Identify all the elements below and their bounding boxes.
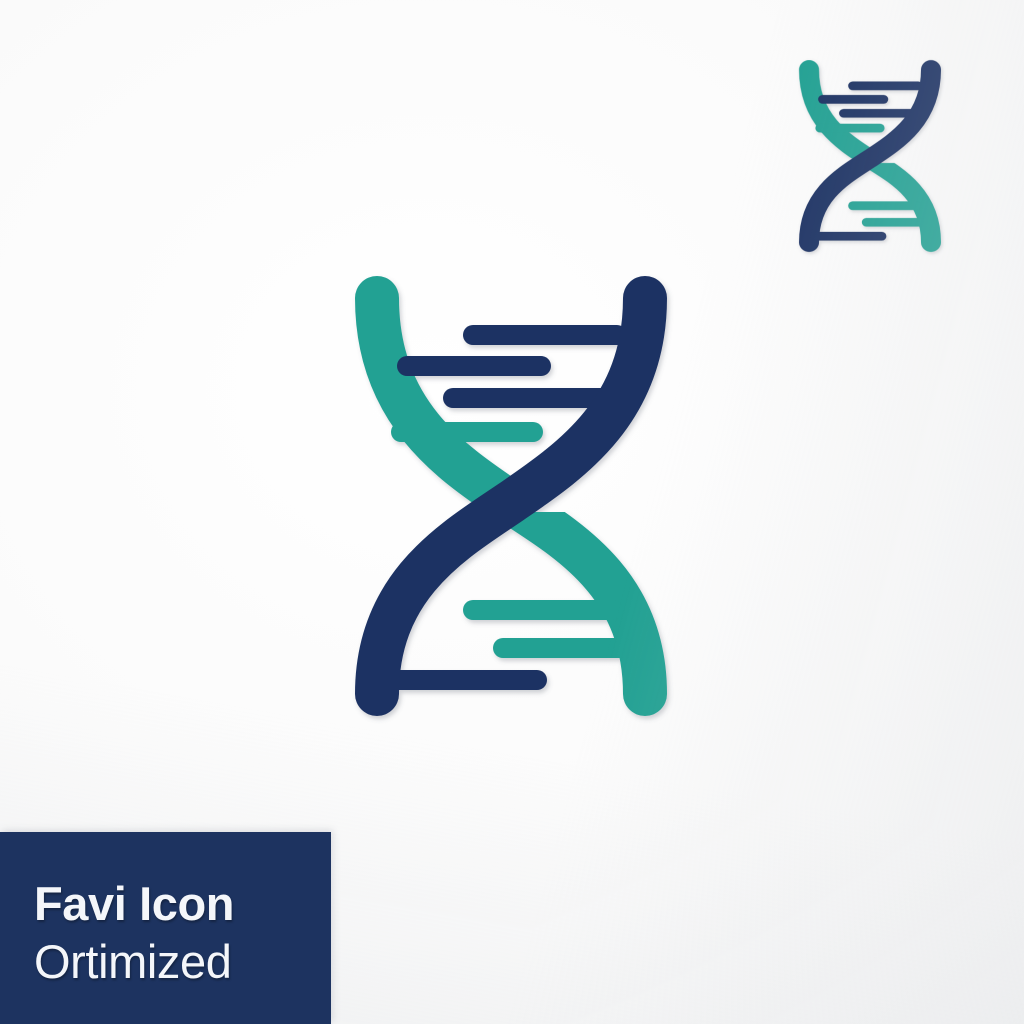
dna-helix-icon — [799, 54, 941, 258]
dna-helix-logo-main — [355, 262, 667, 730]
caption-plate: Favi Icon Ortimized — [0, 832, 331, 1024]
caption-line-primary: Favi Icon — [34, 876, 331, 932]
teal-strand-lower — [868, 158, 931, 243]
dna-helix-icon — [355, 262, 667, 730]
favicon-preview — [799, 54, 941, 258]
caption-line-secondary: Ortimized — [34, 934, 331, 990]
teal-strand-lower — [507, 500, 645, 694]
logo-canvas: Favi Icon Ortimized — [0, 0, 1024, 1024]
